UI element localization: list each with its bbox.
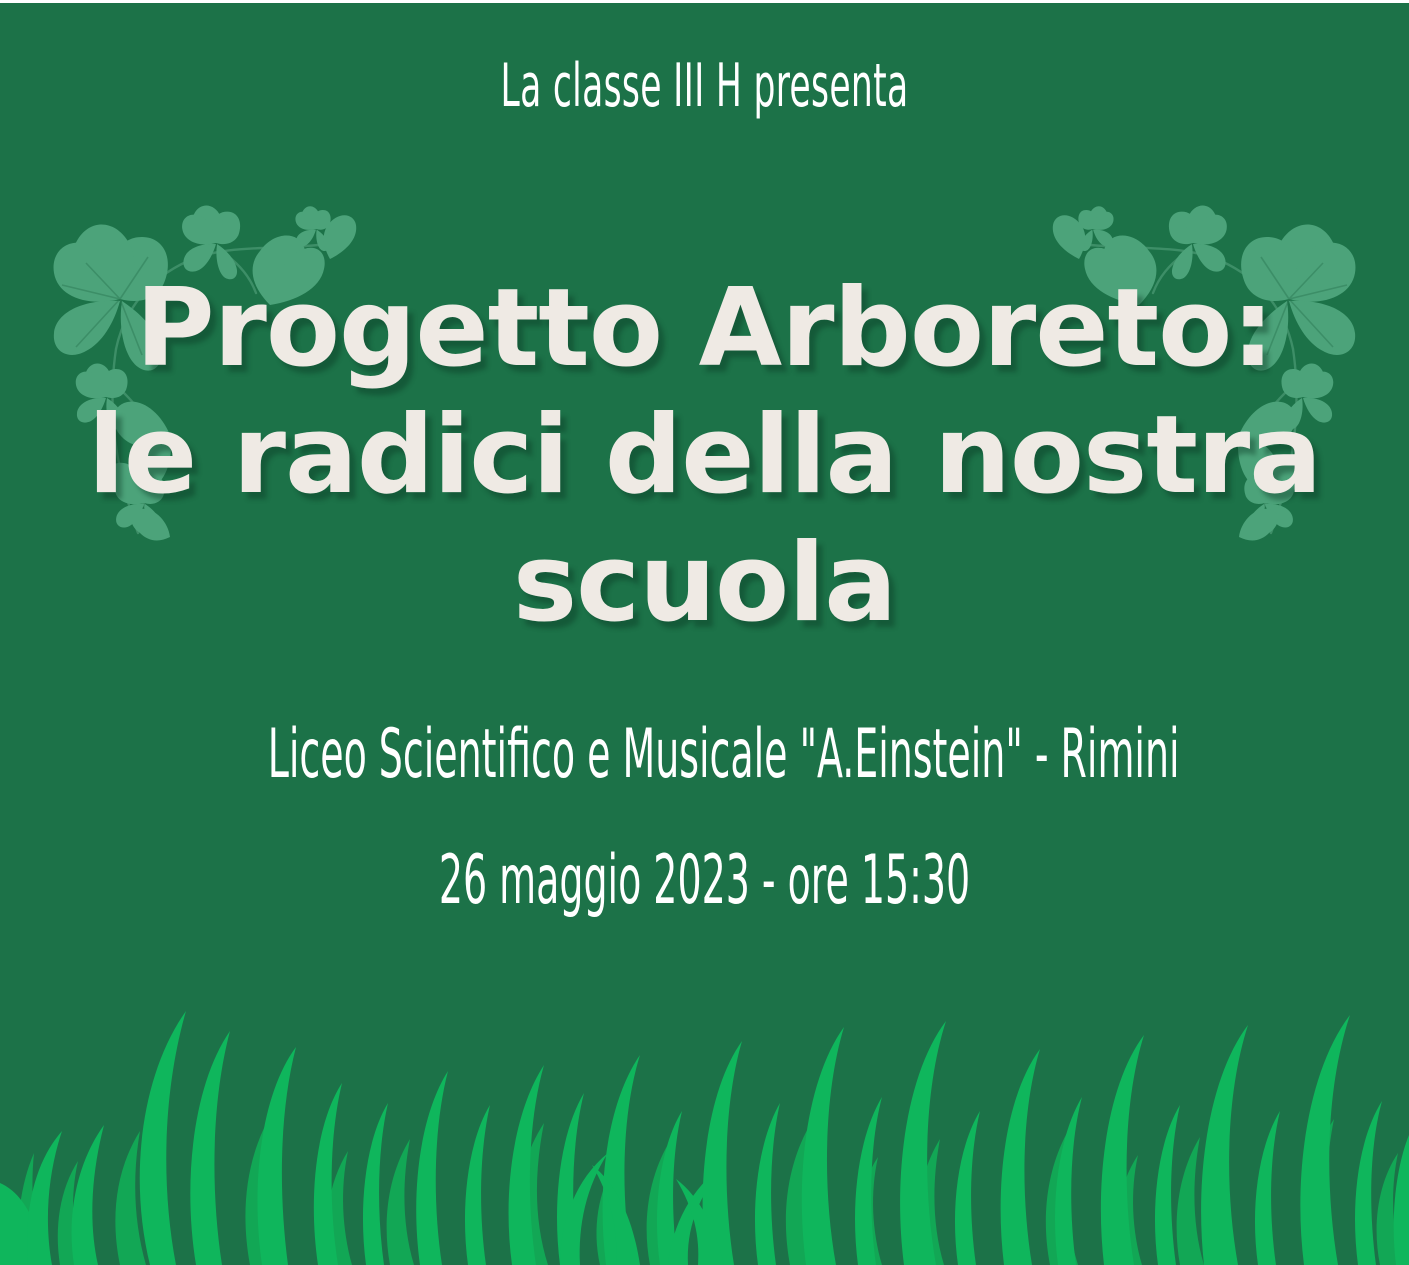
poster-canvas: La classe III H presenta Progetto Arbore… bbox=[0, 0, 1409, 1265]
datetime-text: 26 maggio 2023 - ore 15:30 bbox=[268, 845, 1142, 916]
title-line-1: Progetto Arboreto: bbox=[0, 265, 1409, 392]
title-line-3: scuola bbox=[0, 520, 1409, 647]
title-line-2: le radici della nostra bbox=[0, 392, 1409, 519]
venue-text: Liceo Scientifico e Musicale "A.Einstein… bbox=[268, 719, 1142, 790]
page-title: Progetto Arboreto: le radici della nostr… bbox=[0, 265, 1409, 647]
poster-content: La classe III H presenta Progetto Arbore… bbox=[0, 3, 1409, 1265]
kicker-text: La classe III H presenta bbox=[254, 55, 1156, 118]
